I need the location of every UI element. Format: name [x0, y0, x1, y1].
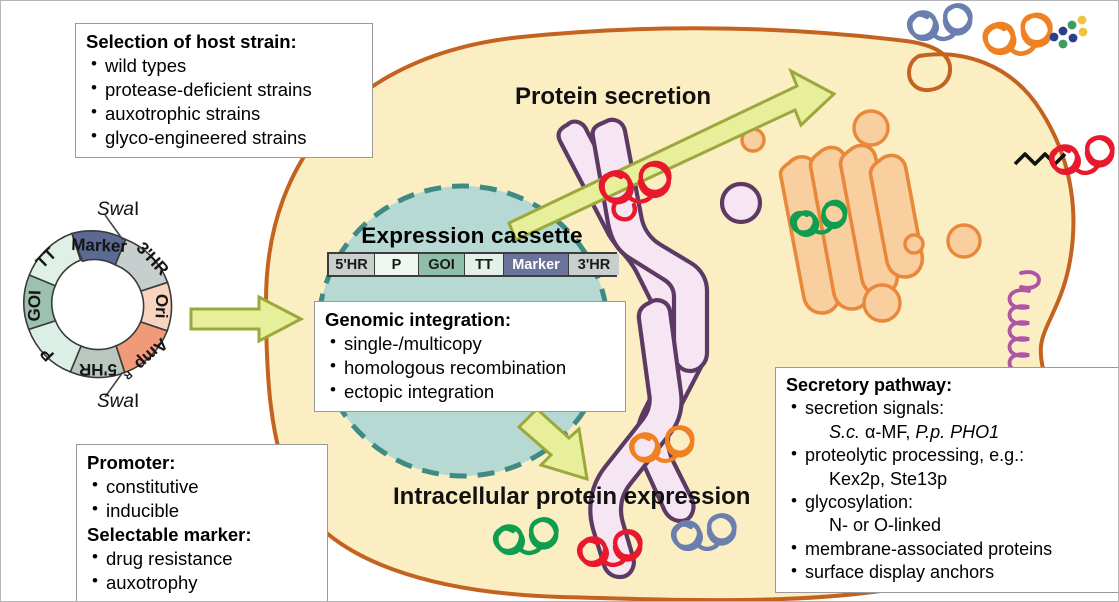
cassette-segment-goi: GOI [419, 254, 465, 275]
cassette-track: 5'HRPGOITTMarker3'HR [327, 252, 617, 277]
selectable-marker-list: drug resistanceauxotrophy [87, 547, 317, 595]
cassette-segment-3hr: 3'HR [569, 254, 619, 275]
cassette-title: Expression cassette [327, 223, 617, 249]
promoter-list: constitutiveinducible [87, 475, 317, 523]
list-item: homologous recombination [325, 356, 615, 380]
list-item: ectopic integration [325, 380, 615, 404]
secretory-pathway-box: Secretory pathway: secretion signals:S.c… [775, 367, 1119, 593]
secretory-pathway-list: secretion signals:S.c. α-MF, P.p. PHO1pr… [786, 397, 1108, 584]
cut-site-label-bottom: SwaI [97, 391, 139, 413]
list-item: auxotrophic strains [86, 102, 362, 126]
list-item: auxotrophy [87, 571, 317, 595]
list-item: N- or O-linked [786, 514, 1108, 537]
plasmid-label-marker: Marker [71, 235, 128, 256]
cassette-segment-5hr: 5'HR [329, 254, 375, 275]
label-intracellular-expression: Intracellular protein expression [393, 483, 750, 511]
plasmid-label-goi: GOI [24, 290, 44, 322]
genomic-integration-heading: Genomic integration: [325, 308, 615, 332]
list-item: drug resistance [87, 547, 317, 571]
expression-cassette: Expression cassette 5'HRPGOITTMarker3'HR [327, 223, 617, 277]
host-strain-heading: Selection of host strain: [86, 30, 362, 54]
cassette-segment-p: P [375, 254, 419, 275]
list-item: single-/multicopy [325, 332, 615, 356]
list-item: proteolytic processing, e.g.: [786, 444, 1108, 467]
host-strain-list: wild typesprotease-deficient strainsauxo… [86, 54, 362, 150]
promoter-marker-box: Promoter: constitutiveinducible Selectab… [76, 444, 328, 602]
cassette-segment-marker: Marker [504, 254, 569, 275]
label-protein-secretion: Protein secretion [515, 83, 711, 111]
secretory-pathway-heading: Secretory pathway: [786, 374, 1108, 397]
list-item: secretion signals: [786, 397, 1108, 420]
list-item: membrane-associated proteins [786, 538, 1108, 561]
list-item: wild types [86, 54, 362, 78]
list-item: Kex2p, Ste13p [786, 468, 1108, 491]
cassette-segment-tt: TT [465, 254, 504, 275]
cut-site-label-top: SwaI [97, 199, 139, 221]
genomic-integration-box: Genomic integration: single-/multicopyho… [314, 301, 626, 412]
list-item: constitutive [87, 475, 317, 499]
list-item: S.c. α-MF, P.p. PHO1 [786, 421, 1108, 444]
list-item: surface display anchors [786, 561, 1108, 584]
list-item: inducible [87, 499, 317, 523]
host-strain-box: Selection of host strain: wild typesprot… [75, 23, 373, 158]
list-item: protease-deficient strains [86, 78, 362, 102]
selectable-marker-heading: Selectable marker: [87, 523, 317, 547]
list-item: glycosylation: [786, 491, 1108, 514]
plasmid-label-ori: Ori [152, 294, 172, 319]
promoter-heading: Promoter: [87, 451, 317, 475]
plasmid-label-5hr: 5'HR [79, 360, 117, 379]
figure-canvas: 3'HR Ori Amp R 5'HR P GOI TT Marker SwaI… [0, 0, 1119, 602]
genomic-integration-list: single-/multicopyhomologous recombinatio… [325, 332, 615, 404]
list-item: glyco-engineered strains [86, 126, 362, 150]
